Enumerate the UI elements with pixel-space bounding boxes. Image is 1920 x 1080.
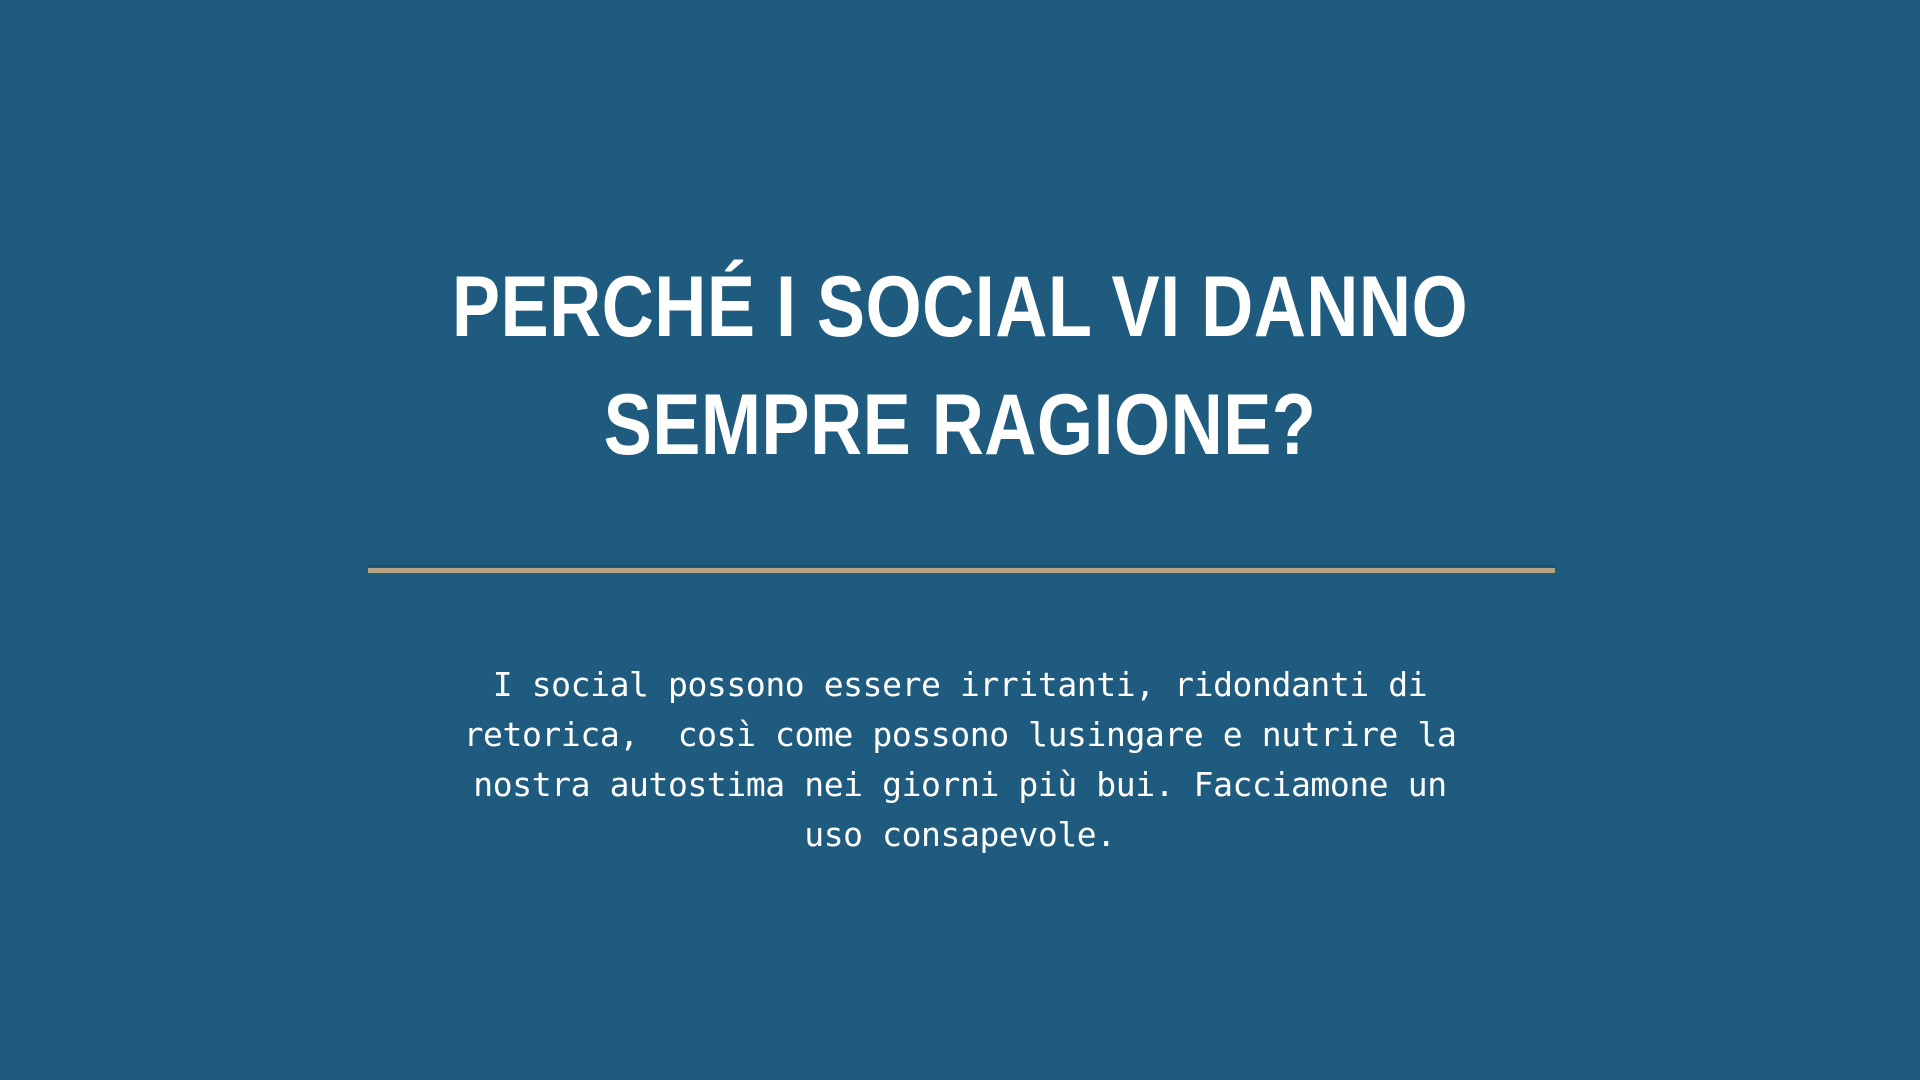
- body-line-3: nostra autostima nei giorni più bui. Fac…: [330, 760, 1590, 810]
- body-line-2: retorica, così come possono lusingare e …: [330, 710, 1590, 760]
- slide-canvas: PERCHÉ I SOCIAL VI DANNO SEMPRE RAGIONE?…: [0, 0, 1920, 1080]
- title-divider: [368, 565, 1555, 577]
- title-line-2: SEMPRE RAGIONE?: [406, 366, 1515, 484]
- slide-body-text: I social possono essere irritanti, ridon…: [330, 660, 1590, 860]
- title-line-1: PERCHÉ I SOCIAL VI DANNO: [406, 248, 1515, 366]
- body-line-4: uso consapevole.: [330, 810, 1590, 860]
- divider-accent-rule: [368, 568, 1555, 573]
- slide-title: PERCHÉ I SOCIAL VI DANNO SEMPRE RAGIONE?: [300, 248, 1620, 484]
- body-line-1: I social possono essere irritanti, ridon…: [330, 660, 1590, 710]
- divider-shadow-line: [368, 565, 1555, 567]
